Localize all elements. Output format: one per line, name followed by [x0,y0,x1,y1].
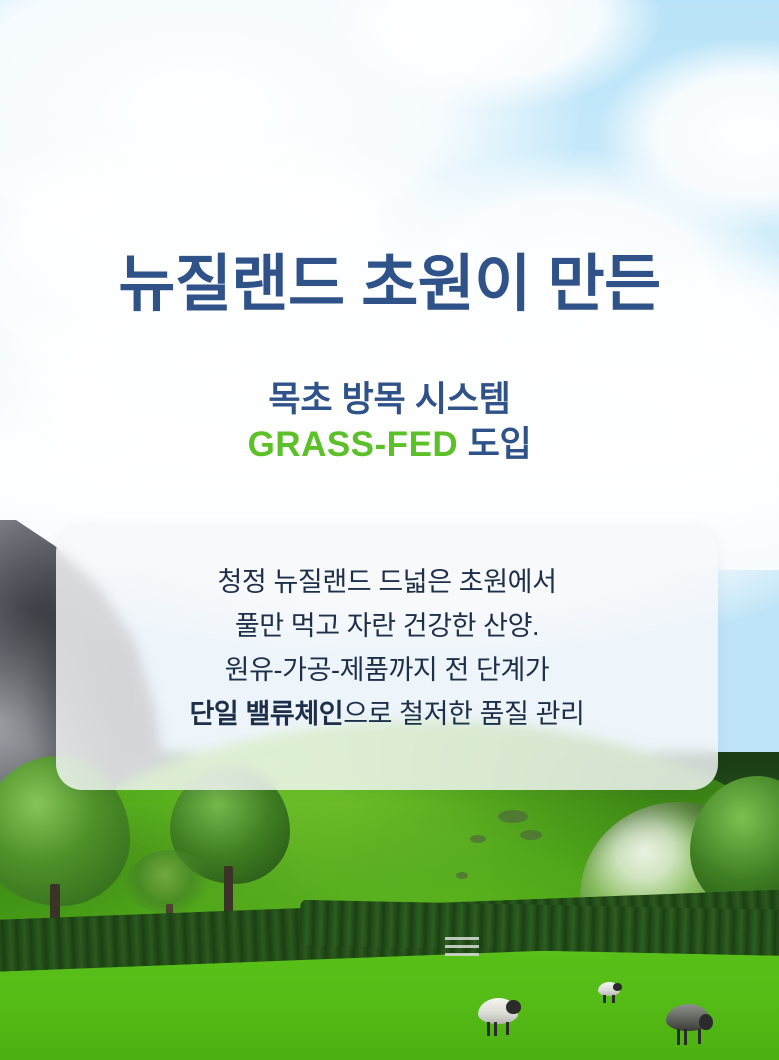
farm-gate [445,934,479,958]
description-text: 청정 뉴질랜드 드넓은 초원에서 풀만 먹고 자란 건강한 산양. 원유-가공-… [56,560,718,736]
description-line-4: 단일 밸류체인으로 철저한 품질 관리 [56,692,718,736]
promo-banner: 뉴질랜드 초원이 만든 목초 방목 시스템 GRASS-FED 도입 청정 뉴질… [0,0,779,1060]
value-chain-strong: 단일 밸류체인 [189,699,343,729]
hill-rock [470,835,486,843]
subtitle-line-2: GRASS-FED 도입 [0,423,779,468]
cloud-icon [330,0,660,110]
hill-rock [498,810,528,823]
subtitle-line-2-rest: 도입 [458,425,531,464]
description-line-1: 청정 뉴질랜드 드넓은 초원에서 [56,560,718,604]
subtitle-line-1: 목초 방목 시스템 [0,378,779,423]
subtitle-block: 목초 방목 시스템 GRASS-FED 도입 [0,378,779,468]
cloud-icon [600,40,779,230]
description-line-2: 풀만 먹고 자란 건강한 산양. [56,604,718,648]
description-line-3: 원유-가공-제품까지 전 단계가 [56,648,718,692]
description-line-4-rest: 으로 철저한 품질 관리 [343,699,584,729]
hill-rock [520,830,542,840]
page-title: 뉴질랜드 초원이 만든 [0,252,779,317]
hill-rock [456,872,468,879]
grass-fed-highlight: GRASS-FED [248,425,459,464]
